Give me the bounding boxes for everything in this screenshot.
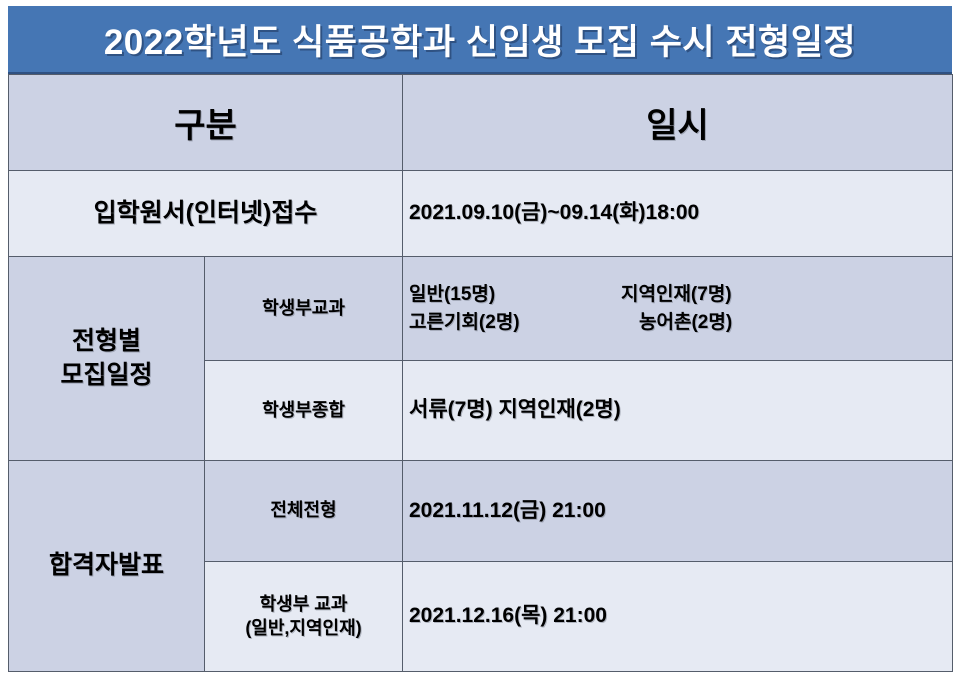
table-header-row: 구분 일시 (9, 75, 953, 171)
admissions-schedule-page: 2022학년도 식품공학과 신입생 모집 수시 전형일정 구분 일시 입학원서(… (0, 0, 960, 674)
quota-row-2: 고른기회(2명) 농어촌(2명) (409, 309, 946, 337)
row-value-announcement-subject: 2021.12.16(목) 21:00 (403, 562, 953, 672)
header-datetime: 일시 (403, 75, 953, 171)
quota-rural: 농어촌(2명) (621, 309, 946, 337)
quota-equal-opportunity: 고른기회(2명) (409, 309, 621, 337)
row-value-comprehensive-track: 서류(7명) 지역인재(2명) (403, 361, 953, 461)
row-label-application: 입학원서(인터넷)접수 (9, 171, 403, 257)
subject-track-quota-grid: 일반(15명) 지역인재(7명) 고른기회(2명) 농어촌(2명) (409, 281, 946, 336)
page-title-banner: 2022학년도 식품공학과 신입생 모집 수시 전형일정 (8, 6, 952, 74)
table-row-subject-track: 전형별 모집일정 학생부교과 일반(15명) 지역인재(7명) 고른기회(2명)… (9, 257, 953, 361)
sublabel-comprehensive-track: 학생부종합 (205, 361, 403, 461)
recruit-schedule-line2: 모집일정 (15, 359, 198, 393)
page-title: 2022학년도 식품공학과 신입생 모집 수시 전형일정 (104, 14, 856, 65)
sublabel-subject-track: 학생부교과 (205, 257, 403, 361)
quota-general: 일반(15명) (409, 281, 621, 309)
row-value-application: 2021.09.10(금)~09.14(화)18:00 (403, 171, 953, 257)
quota-row-1: 일반(15명) 지역인재(7명) (409, 281, 946, 309)
row-label-announcement: 합격자발표 (9, 461, 205, 672)
recruit-schedule-line1: 전형별 (15, 325, 198, 359)
table-row-application: 입학원서(인터넷)접수 2021.09.10(금)~09.14(화)18:00 (9, 171, 953, 257)
table-row-announcement-all: 합격자발표 전체전형 2021.11.12(금) 21:00 (9, 461, 953, 562)
row-value-subject-track: 일반(15명) 지역인재(7명) 고른기회(2명) 농어촌(2명) (403, 257, 953, 361)
sublabel-all-tracks: 전체전형 (205, 461, 403, 562)
admissions-schedule-table: 구분 일시 입학원서(인터넷)접수 2021.09.10(금)~09.14(화)… (8, 74, 953, 672)
quota-local-talent: 지역인재(7명) (621, 281, 946, 309)
sublabel-subject-tracks: 학생부 교과 (일반,지역인재) (205, 562, 403, 672)
sublabel-subject-tracks-line1: 학생부 교과 (211, 593, 396, 616)
row-label-recruit-schedule: 전형별 모집일정 (9, 257, 205, 461)
header-category: 구분 (9, 75, 403, 171)
sublabel-subject-tracks-line2: (일반,지역인재) (211, 617, 396, 640)
row-value-announcement-all: 2021.11.12(금) 21:00 (403, 461, 953, 562)
